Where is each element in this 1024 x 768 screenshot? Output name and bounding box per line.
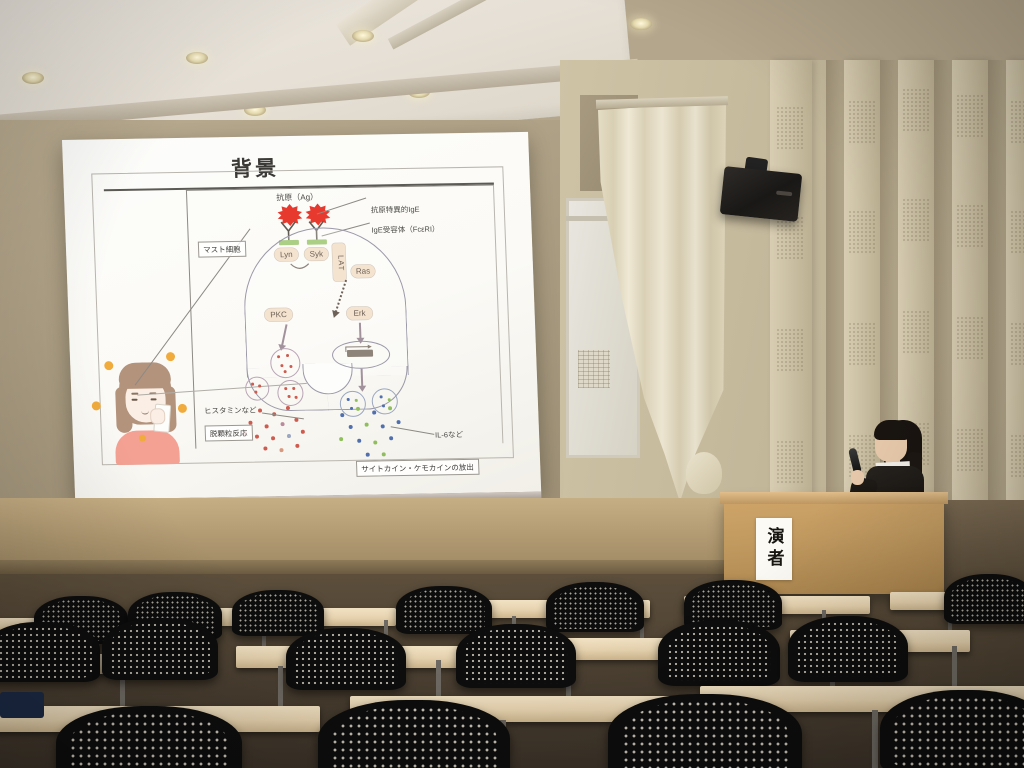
label-il6: IL-6など	[435, 429, 463, 440]
label-specific-ige: 抗原特異的IgE	[371, 204, 420, 216]
chair	[658, 620, 780, 686]
acoustic-panel	[952, 60, 988, 530]
chair	[56, 706, 242, 768]
acoustic-panel	[770, 60, 812, 530]
acoustic-panel	[844, 60, 880, 530]
label-ige-receptor: IgE受容体（FcεRI）	[371, 223, 439, 235]
stage-lip	[0, 560, 760, 574]
chair	[788, 616, 908, 682]
molecule-lyn: Lyn	[274, 248, 298, 261]
posted-notice	[578, 350, 610, 388]
acoustic-panel	[1006, 60, 1024, 530]
lecture-hall-photo: 背景	[0, 0, 1024, 768]
wall-panel-gap	[826, 60, 844, 530]
chair	[456, 624, 576, 688]
transcription-arrow-icon	[344, 344, 376, 355]
label-antigen: 抗原（Ag）	[276, 192, 318, 204]
label-mast-cell: マスト細胞	[198, 241, 246, 258]
wall-panel-gap	[988, 60, 1006, 530]
wall-panel-gap	[934, 60, 952, 530]
presenter-sign-text: 演者	[766, 527, 783, 571]
label-degranulation: 脱顆粒反応	[205, 425, 253, 442]
feedback-arrow-icon	[289, 262, 311, 274]
downlight-icon	[22, 72, 44, 84]
cytokine-particle	[340, 413, 344, 417]
stage-front-wall	[0, 498, 760, 568]
presenter-hand-mic	[851, 470, 864, 485]
projection-screen: 背景	[62, 132, 541, 500]
chair	[318, 700, 510, 768]
chair	[880, 690, 1024, 768]
podium-top	[720, 492, 948, 504]
presenter-sign: 演者	[756, 518, 792, 580]
curtain-tieback[interactable]	[686, 452, 722, 494]
chair	[396, 586, 492, 634]
chair	[546, 582, 644, 632]
chair	[102, 618, 218, 680]
downlight-icon	[630, 18, 652, 30]
molecule-syk: Syk	[304, 247, 328, 260]
pollen-dot-icon	[92, 401, 101, 410]
pollen-dot-icon	[178, 404, 187, 413]
molecule-pkc: PKC	[264, 308, 292, 321]
slide-content: 背景	[62, 132, 541, 500]
label-histamine: ヒスタミンなど	[204, 405, 257, 417]
wall-speaker-icon	[720, 166, 803, 222]
molecule-ras: Ras	[351, 265, 375, 278]
chair	[286, 628, 406, 690]
downlight-icon	[186, 52, 208, 64]
chair	[232, 590, 324, 636]
chair	[608, 694, 802, 768]
chair	[944, 574, 1024, 624]
molecule-lat: LAT	[332, 243, 346, 281]
pollen-dot-icon	[104, 361, 113, 370]
molecule-erk: Erk	[346, 307, 372, 320]
pollen-dot-icon	[139, 435, 146, 442]
seat-cushion	[0, 692, 44, 718]
pollen-dot-icon	[166, 352, 175, 361]
downlight-icon	[352, 30, 374, 42]
label-cytokine-release: サイトカイン・ケモカインの放出	[356, 459, 479, 477]
presenter-fringe	[874, 420, 910, 440]
chair	[0, 622, 100, 682]
